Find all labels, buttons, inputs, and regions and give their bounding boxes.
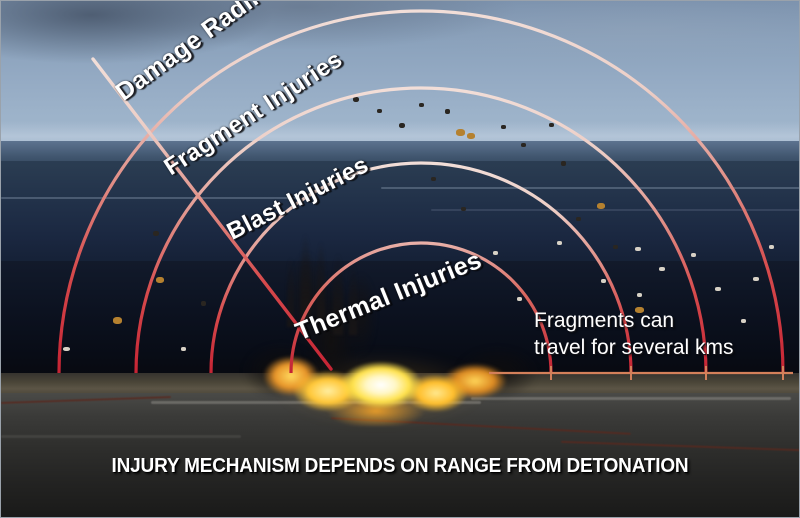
arc-damage-radii [59,11,783,373]
arc-fragment-injuries [136,88,706,373]
damage-radii-overlay [1,1,800,518]
diagram-image: Damage Radii Fragment Injuries Blast Inj… [0,0,800,518]
radial-reference-line [93,59,331,369]
arc-blast-injuries [211,163,631,373]
arc-thermal-injuries [291,243,551,373]
